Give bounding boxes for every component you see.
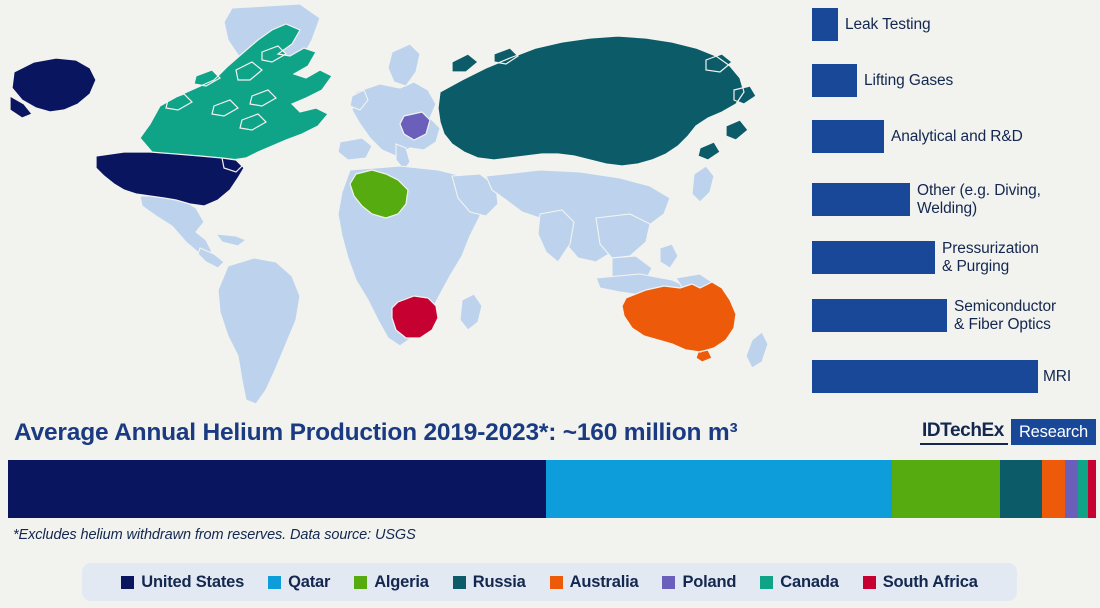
legend-item-australia[interactable]: Australia [550,573,639,592]
legend-label-canada: Canada [780,573,838,592]
legend-swatch-south-africa [863,576,876,589]
app-label-other: Other (e.g. Diving, Welding) [917,182,1041,217]
legend-label-russia: Russia [473,573,526,592]
stacked-segment-poland[interactable] [1065,460,1078,518]
app-row-mri: MRI [812,360,1071,393]
legend-swatch-poland [662,576,675,589]
country-legend: United States Qatar Algeria Russia Austr… [82,563,1017,601]
brand-research-tag: Research [1011,419,1096,445]
app-row-semiconductor-fiber-optics: Semiconductor & Fiber Optics [812,298,1056,333]
helium-applications-chart: Leak Testing Lifting Gases Analytical an… [805,0,1100,408]
region-iberia [338,138,372,160]
legend-swatch-australia [550,576,563,589]
legend-swatch-algeria [354,576,367,589]
app-label-pressurization-purging: Pressurization & Purging [942,240,1039,275]
app-row-pressurization-purging: Pressurization & Purging [812,240,1039,275]
legend-swatch-united-states [121,576,134,589]
app-bar-other [812,183,910,216]
stacked-segment-qatar[interactable] [546,460,892,518]
legend-label-united-states: United States [141,573,244,592]
legend-label-australia: Australia [570,573,639,592]
legend-label-qatar: Qatar [288,573,330,592]
app-bar-analytical-rd [812,120,884,153]
world-map-svg [0,0,800,408]
legend-swatch-qatar [268,576,281,589]
app-label-leak-testing: Leak Testing [845,16,931,34]
legend-swatch-russia [453,576,466,589]
legend-item-canada[interactable]: Canada [760,573,838,592]
legend-item-united-states[interactable]: United States [121,573,244,592]
app-label-lifting-gases: Lifting Gases [864,72,953,90]
app-bar-leak-testing [812,8,838,41]
footnote: *Excludes helium withdrawn from reserves… [13,527,416,543]
world-map [0,0,800,408]
legend-item-south-africa[interactable]: South Africa [863,573,978,592]
production-share-stacked-bar [8,460,1096,518]
stacked-segment-algeria[interactable] [892,460,1000,518]
app-row-leak-testing: Leak Testing [812,8,931,41]
stacked-segment-united-states[interactable] [8,460,546,518]
legend-item-qatar[interactable]: Qatar [268,573,330,592]
legend-swatch-canada [760,576,773,589]
app-label-analytical-rd: Analytical and R&D [891,128,1023,146]
stacked-segment-australia[interactable] [1042,460,1065,518]
legend-item-algeria[interactable]: Algeria [354,573,429,592]
brand-logo: IDTechEx Research [920,419,1096,445]
title-strip: Average Annual Helium Production 2019-20… [0,408,1100,458]
legend-item-poland[interactable]: Poland [662,573,736,592]
app-row-analytical-rd: Analytical and R&D [812,120,1023,153]
app-row-other: Other (e.g. Diving, Welding) [812,182,1041,217]
page-title: Average Annual Helium Production 2019-20… [14,419,737,447]
app-label-mri: MRI [1043,368,1071,386]
app-bar-pressurization-purging [812,241,935,274]
legend-item-russia[interactable]: Russia [453,573,526,592]
brand-name: IDTechEx [920,419,1008,445]
app-label-semiconductor-fiber-optics: Semiconductor & Fiber Optics [954,298,1056,333]
legend-label-south-africa: South Africa [883,573,978,592]
app-row-lifting-gases: Lifting Gases [812,64,953,97]
stacked-segment-canada[interactable] [1078,460,1088,518]
stacked-segment-south-africa[interactable] [1088,460,1096,518]
app-bar-semiconductor-fiber-optics [812,299,947,332]
legend-label-algeria: Algeria [374,573,429,592]
legend-label-poland: Poland [682,573,736,592]
stacked-segment-russia[interactable] [1000,460,1042,518]
infographic-root: Leak Testing Lifting Gases Analytical an… [0,0,1100,608]
app-bar-mri [812,360,1038,393]
app-bar-lifting-gases [812,64,857,97]
